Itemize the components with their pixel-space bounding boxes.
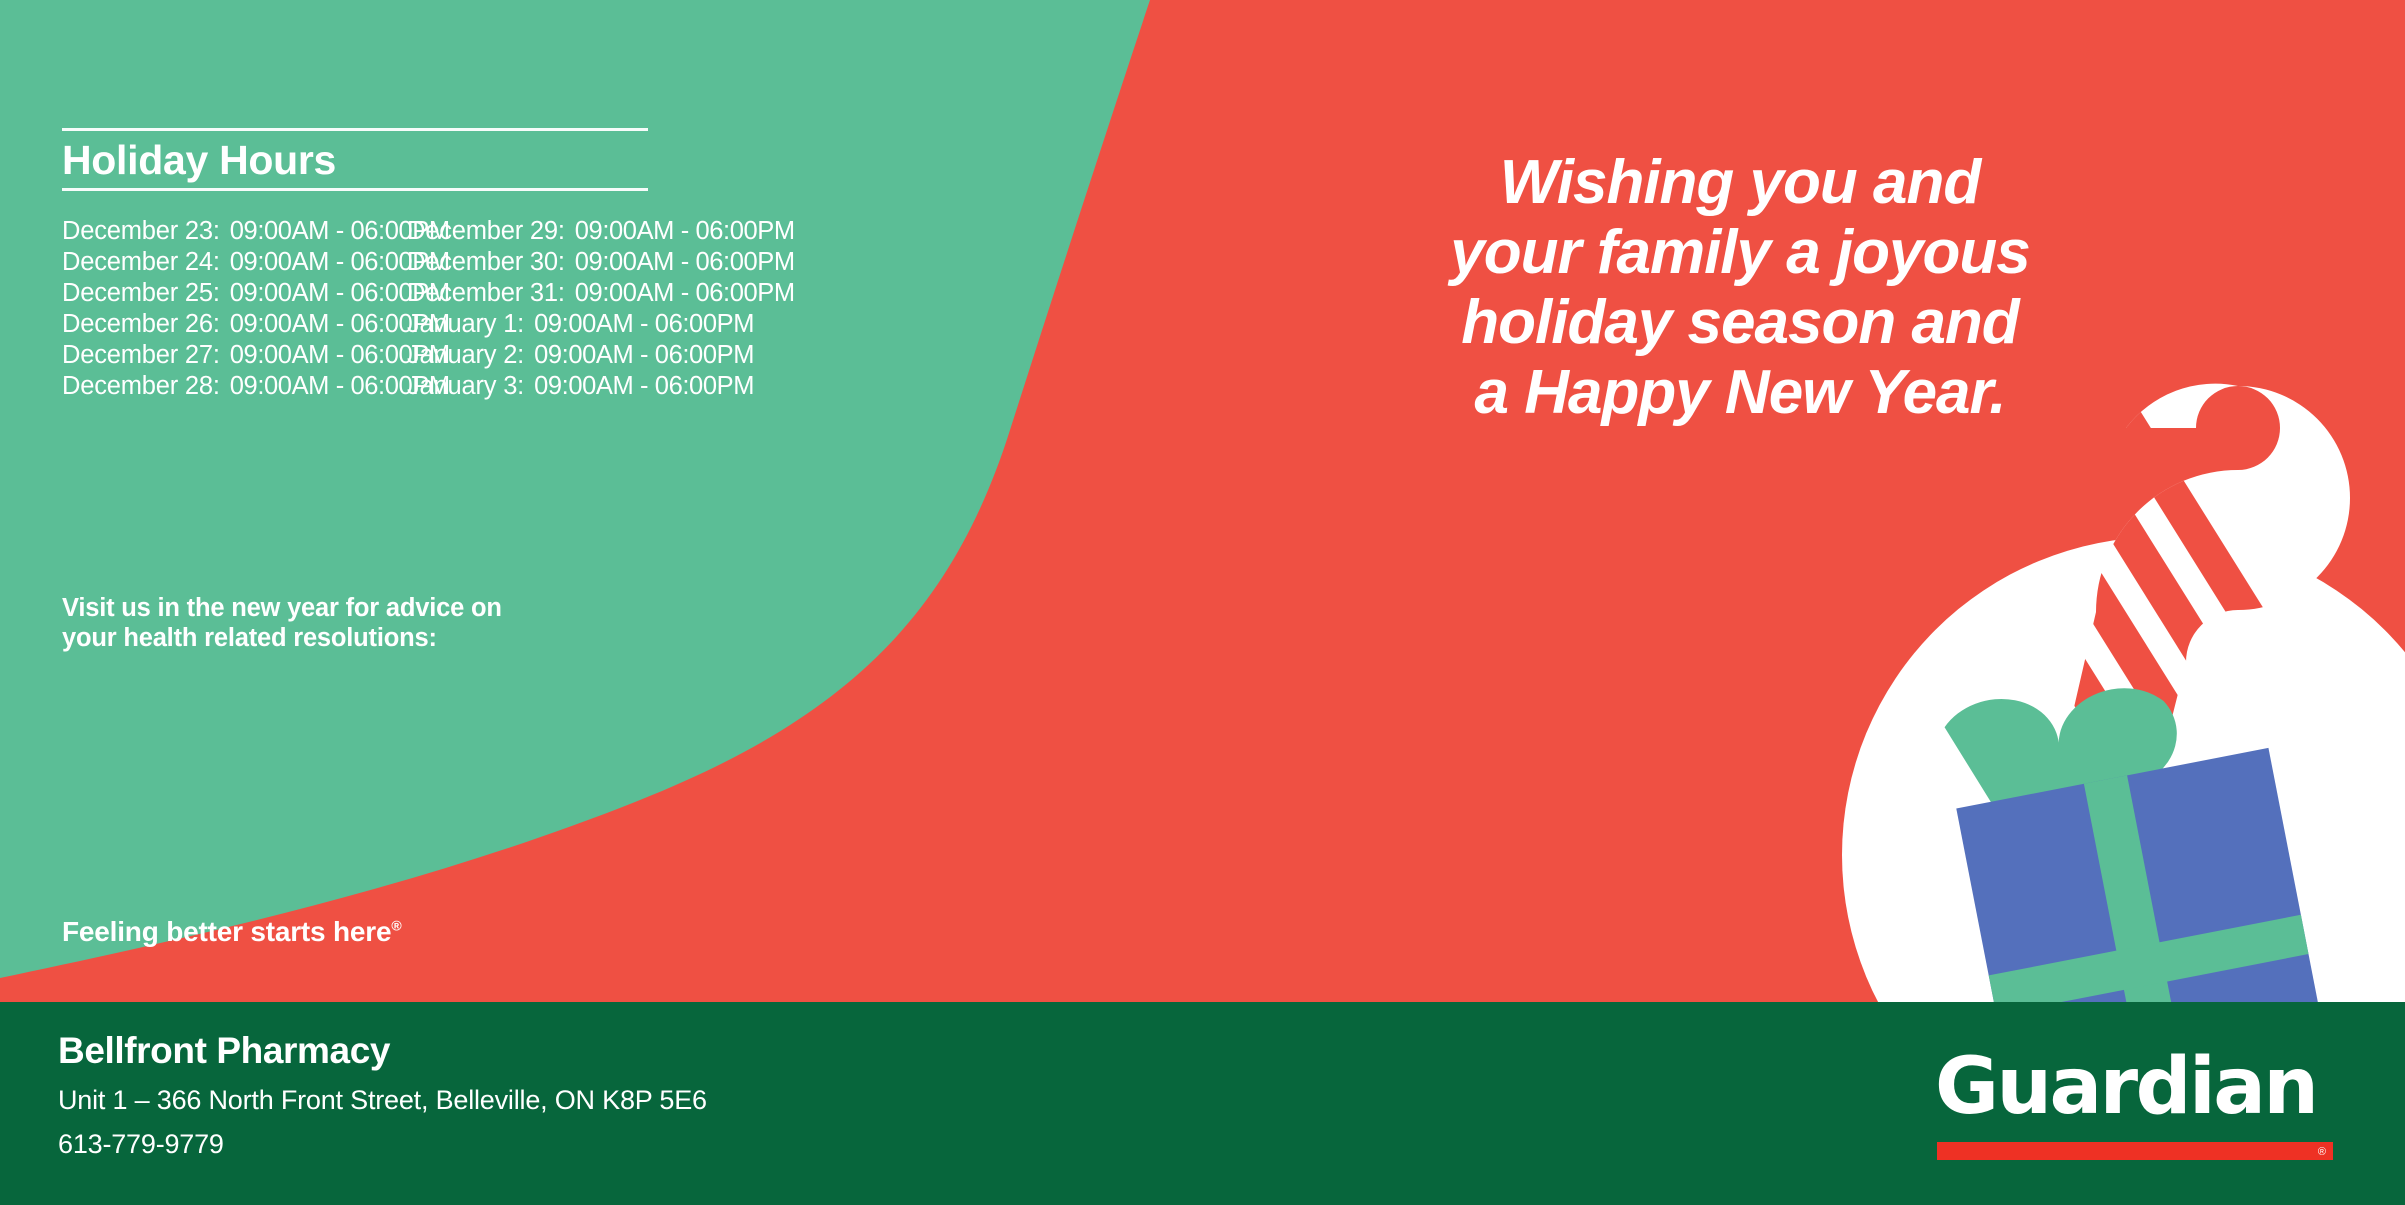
holiday-hours-panel: Holiday Hours December 23: 09:00AM - 06:…	[62, 128, 762, 403]
hours-row: January 1: 09:00AM - 06:00PM	[407, 310, 729, 341]
hours-row: January 3: 09:00AM - 06:00PM	[407, 372, 729, 403]
hours-day: December 30:	[407, 248, 565, 277]
hours-grid: December 23: 09:00AM - 06:00PM December …	[62, 217, 762, 403]
visit-note-line2: your health related resolutions:	[62, 624, 682, 654]
greeting-line-3: holiday season and	[1330, 288, 2150, 358]
pharmacy-address: Unit 1 – 366 North Front Street, Bellevi…	[58, 1085, 707, 1116]
logo-registered-mark: ®	[2318, 1147, 2326, 1158]
hours-day: December 26:	[62, 310, 220, 339]
hours-day: December 28:	[62, 372, 220, 401]
hours-time: 09:00AM - 06:00PM	[524, 310, 754, 339]
visit-note-line1: Visit us in the new year for advice on	[62, 594, 682, 624]
hours-time: 09:00AM - 06:00PM	[565, 217, 795, 246]
greeting-line-2: your family a joyous	[1330, 218, 2150, 288]
rule-top	[62, 128, 648, 131]
guardian-logo: Guardian ®	[1935, 1050, 2335, 1160]
hours-day: January 1:	[407, 310, 524, 339]
greeting-line-4: a Happy New Year.	[1330, 358, 2150, 428]
hours-day: December 24:	[62, 248, 220, 277]
hours-day: January 2:	[407, 341, 524, 370]
logo-red-bar: ®	[1937, 1142, 2333, 1160]
hours-row: December 28: 09:00AM - 06:00PM	[62, 372, 380, 403]
hours-day: December 29:	[407, 217, 565, 246]
hours-row: December 25: 09:00AM - 06:00PM	[62, 279, 380, 310]
hours-time: 09:00AM - 06:00PM	[524, 372, 754, 401]
pharmacy-name: Bellfront Pharmacy	[58, 1030, 390, 1072]
footer-bar: Bellfront Pharmacy Unit 1 – 366 North Fr…	[0, 1002, 2405, 1205]
hours-row: December 29: 09:00AM - 06:00PM	[407, 217, 729, 248]
hours-row: December 30: 09:00AM - 06:00PM	[407, 248, 729, 279]
holiday-banner: Holiday Hours December 23: 09:00AM - 06:…	[0, 0, 2405, 1205]
guardian-wordmark: Guardian	[1935, 1050, 2335, 1124]
hours-day: December 25:	[62, 279, 220, 308]
registered-mark: ®	[391, 918, 401, 934]
hours-day: January 3:	[407, 372, 524, 401]
tagline-text: Feeling better starts here	[62, 916, 391, 947]
visit-note: Visit us in the new year for advice on y…	[62, 594, 682, 654]
hours-day: December 27:	[62, 341, 220, 370]
hours-row: December 23: 09:00AM - 06:00PM	[62, 217, 380, 248]
greeting-headline: Wishing you and your family a joyous hol…	[1330, 148, 2150, 428]
hours-row: December 31: 09:00AM - 06:00PM	[407, 279, 729, 310]
hours-row: January 2: 09:00AM - 06:00PM	[407, 341, 729, 372]
hours-day: December 23:	[62, 217, 220, 246]
greeting-line-1: Wishing you and	[1330, 148, 2150, 218]
pharmacy-phone: 613-779-9779	[58, 1129, 224, 1160]
hours-column-right: December 29: 09:00AM - 06:00PM December …	[407, 217, 752, 403]
hours-day: December 31:	[407, 279, 565, 308]
hours-row: December 27: 09:00AM - 06:00PM	[62, 341, 380, 372]
hours-row: December 24: 09:00AM - 06:00PM	[62, 248, 380, 279]
hours-time: 09:00AM - 06:00PM	[565, 279, 795, 308]
holiday-hours-title: Holiday Hours	[62, 131, 762, 188]
rule-bottom	[62, 188, 648, 191]
brand-tagline: Feeling better starts here®	[62, 916, 401, 948]
hours-column-left: December 23: 09:00AM - 06:00PM December …	[62, 217, 407, 403]
hours-time: 09:00AM - 06:00PM	[524, 341, 754, 370]
hours-row: December 26: 09:00AM - 06:00PM	[62, 310, 380, 341]
hours-time: 09:00AM - 06:00PM	[565, 248, 795, 277]
